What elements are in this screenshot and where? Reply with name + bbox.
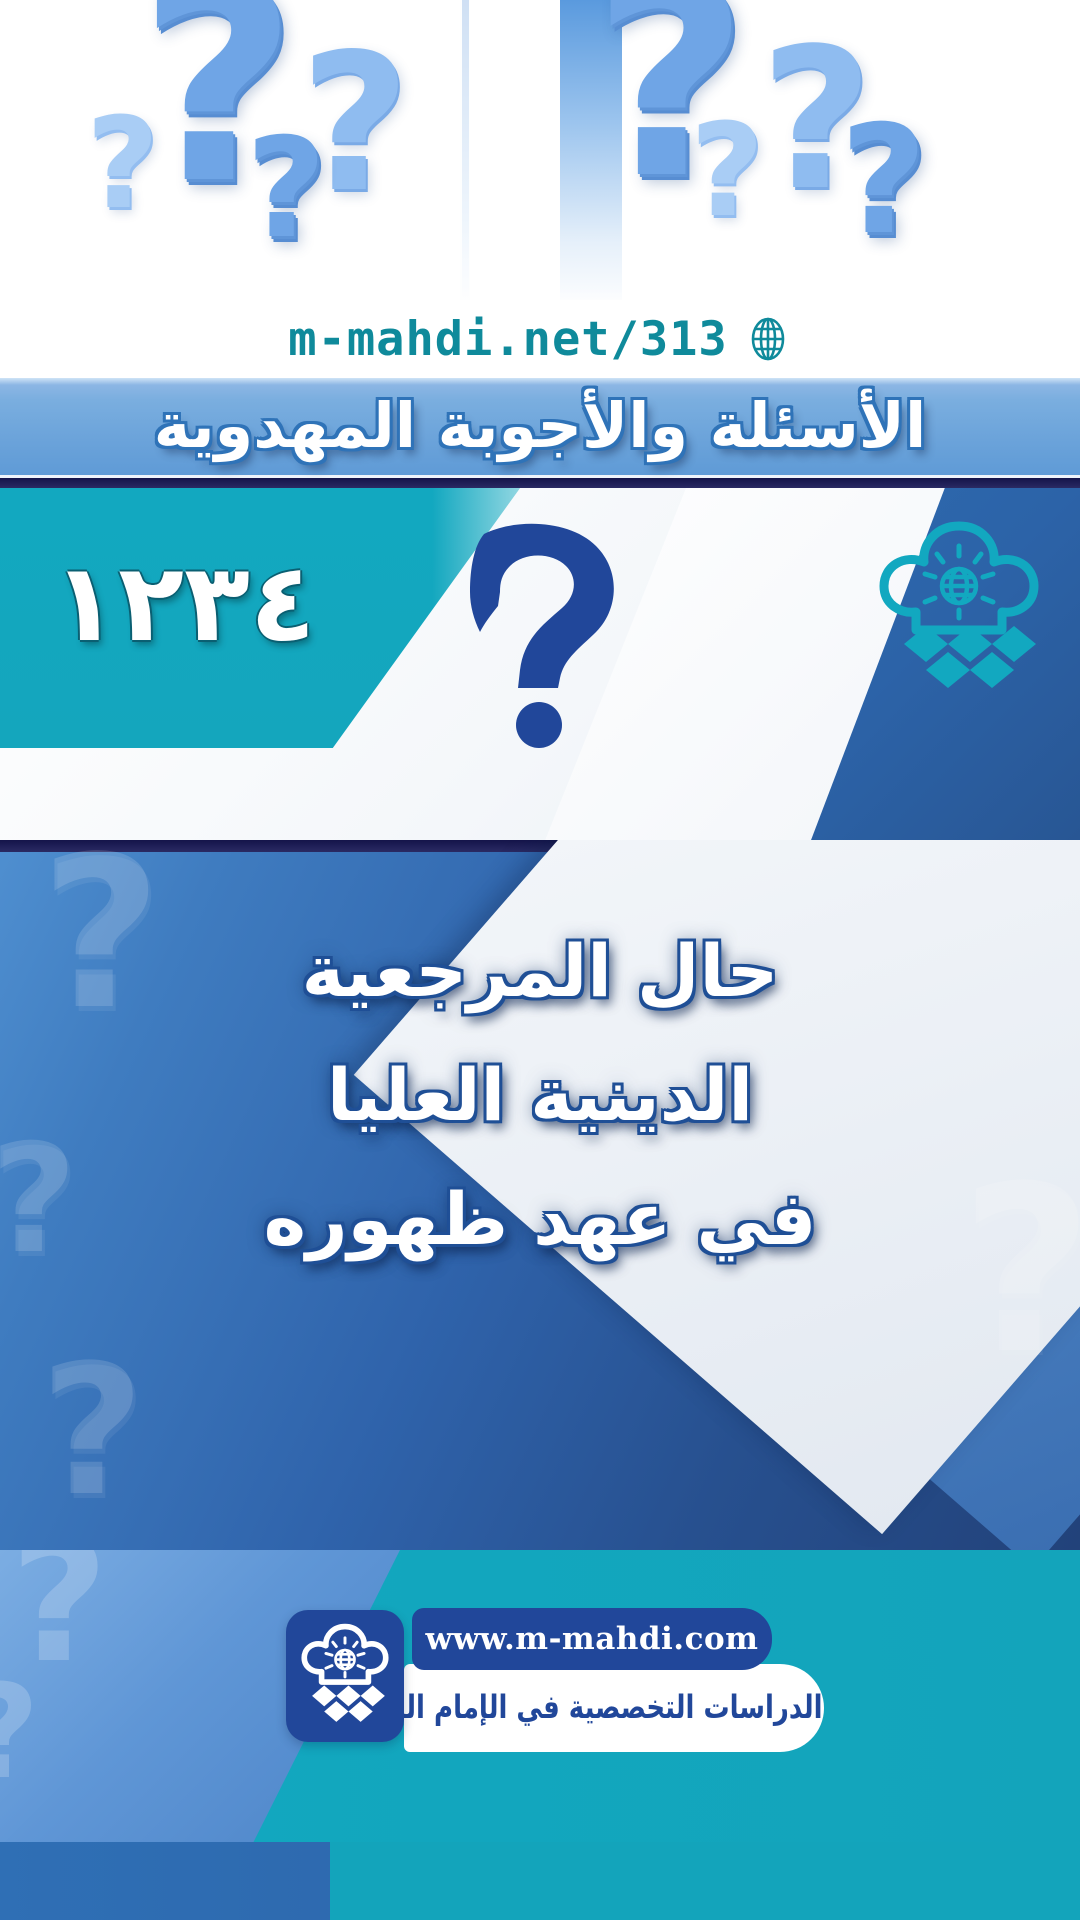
footer-url-pill[interactable]: www.m-mahdi.com [412,1608,772,1670]
footer-url-text[interactable]: www.m-mahdi.com [426,1621,759,1657]
footer-calligraphy-text: مركز الدراسات التخصصية في الإمام المهدي [404,1689,824,1727]
question-mark-head-icon [440,520,650,750]
ghost-question-mark: ? [10,1550,109,1670]
poster-root: ? ? ? ? ? ? ? ? m-mahdi.net/313 الأسئلة … [0,0,1080,1920]
globe-icon [744,315,792,363]
question-number: ١٢٣٤ [34,550,334,658]
footer-calligraphy: مركز الدراسات التخصصية في الإمام المهدي [404,1664,824,1752]
site-url-strip: m-mahdi.net/313 [0,300,1080,378]
ghost-question-mark: ? [40,1360,144,1504]
site-url-text[interactable]: m-mahdi.net/313 [288,312,727,367]
question-line-3: في عهد ظهوره [100,1158,980,1282]
question-panel: ? ? ? ? حال المرجعية الدينية العليا في ع… [0,840,1080,1550]
question-mark-glyph: ? [246,132,326,245]
mahdi-center-logo-icon[interactable] [286,1610,404,1742]
center-emblem-icon [864,510,1054,710]
ghost-question-mark: ? [0,1680,39,1784]
question-line-1: حال المرجعية [100,910,980,1034]
footer-bottom-teal [330,1842,1080,1920]
footer-url-plate: مركز الدراسات التخصصية في الإمام المهدي … [404,1606,834,1752]
question-mark-glyph: ? [690,120,764,225]
question-mark-glyph: ? [840,120,927,243]
mid-band: ١٢٣٤ [0,488,1080,840]
banner-title-text: الأسئلة والأجوبة المهدوية [154,395,926,457]
title-banner: الأسئلة والأجوبة المهدوية [0,378,1080,478]
question-mark-glyph: ? [86,112,159,215]
question-text-block: حال المرجعية الدينية العليا في عهد ظهوره [0,910,1080,1281]
footer: ? ? [0,1550,1080,1920]
question-line-2: الدينية العليا [100,1034,980,1158]
